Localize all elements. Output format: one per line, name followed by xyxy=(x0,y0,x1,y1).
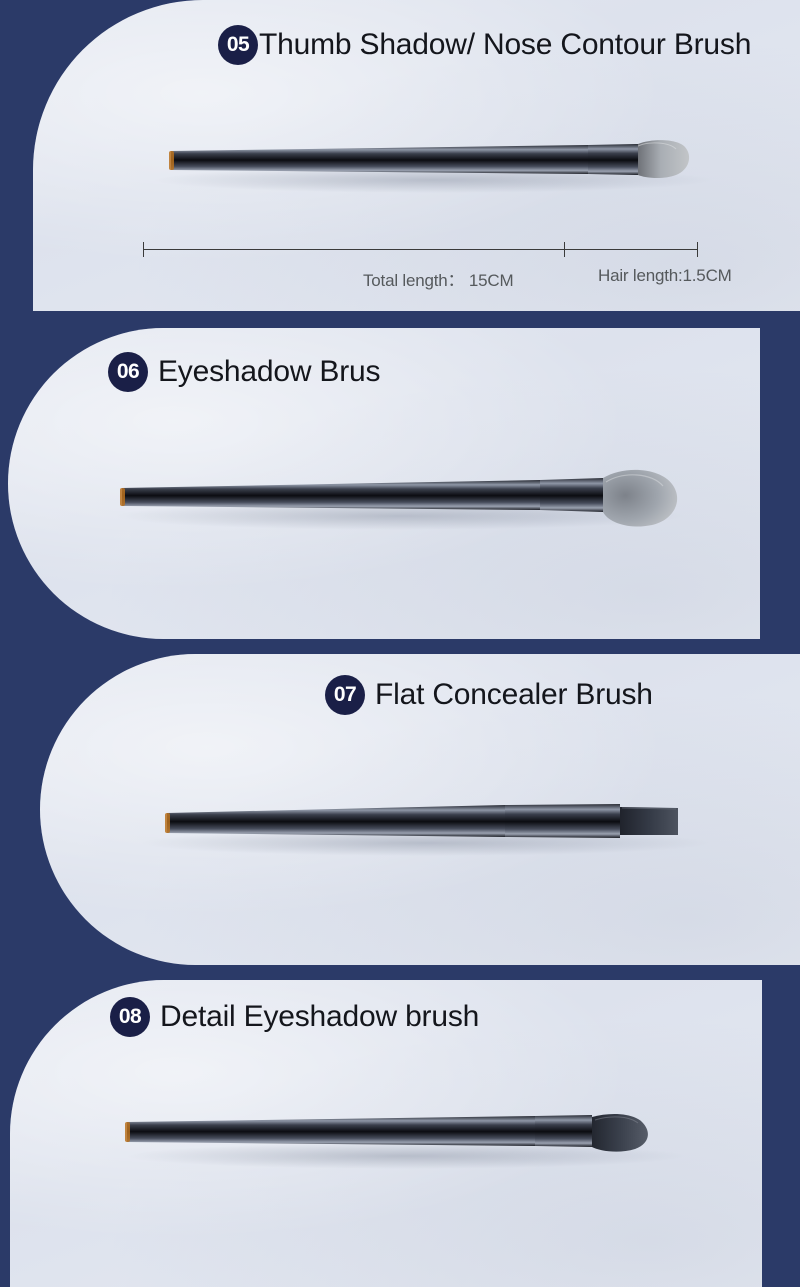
hair-length-label: Hair length:1.5CM xyxy=(598,266,732,286)
product-panel-07: 07 Flat Concealer Brush xyxy=(40,654,800,965)
brush-image-07 xyxy=(125,777,715,872)
panel-heading-06: 06 Eyeshadow Brus xyxy=(108,352,380,392)
panel-title: Eyeshadow Brus xyxy=(158,355,380,389)
brush-image-05 xyxy=(133,118,713,208)
panel-heading-08: 08 Detail Eyeshadow brush xyxy=(110,997,479,1037)
panel-number-badge: 08 xyxy=(110,997,150,1037)
panel-number-badge: 07 xyxy=(325,675,365,715)
tick-start xyxy=(143,242,144,257)
tick-end xyxy=(697,242,698,257)
panel-title: Detail Eyeshadow brush xyxy=(160,1000,479,1034)
total-length-label: Total length： 15CM xyxy=(363,266,513,291)
product-panel-06: 06 Eyeshadow Brus xyxy=(8,328,760,639)
measurement-bar-05: Total length： 15CM Hair length:1.5CM xyxy=(143,242,698,296)
product-panel-05: 05 Thumb Shadow/ Nose Contour Brush xyxy=(33,0,800,311)
product-panel-08: 08 Detail Eyeshadow brush xyxy=(10,980,762,1287)
brush-image-06 xyxy=(100,446,690,546)
tick-divider xyxy=(564,242,565,257)
panel-title: Thumb Shadow/ Nose Contour Brush xyxy=(259,28,751,62)
brush-image-08 xyxy=(105,1090,695,1185)
panel-number-badge: 06 xyxy=(108,352,148,392)
panel-number-badge: 05 xyxy=(218,25,258,65)
panel-heading-07: 07 Flat Concealer Brush xyxy=(325,675,653,715)
panel-heading-05: 05 Thumb Shadow/ Nose Contour Brush xyxy=(218,25,751,65)
panel-title: Flat Concealer Brush xyxy=(375,678,653,712)
